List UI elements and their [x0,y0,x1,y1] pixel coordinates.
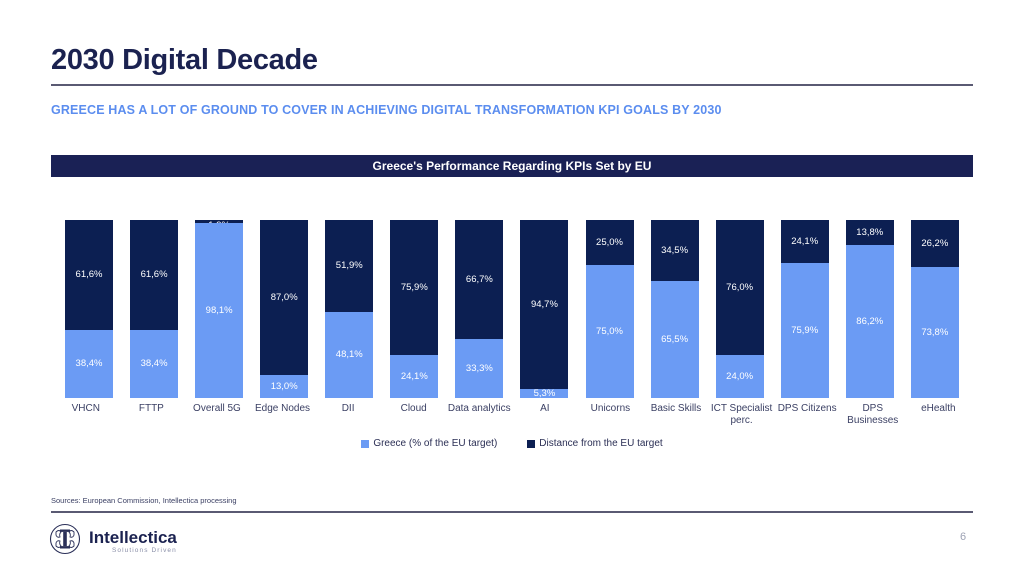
chart-title-banner: Greece's Performance Regarding KPIs Set … [51,155,973,177]
bar-value-label: 24,0% [726,372,753,382]
bar-segment-distance: 34,5% [651,220,699,281]
chart-legend: Greece (% of the EU target)Distance from… [0,438,1024,449]
bar-value-label: 24,1% [791,237,818,247]
bar-column[interactable]: 66,7%33,3% [455,220,503,398]
axis-category-label: DPS Citizens [774,403,840,426]
bar-column[interactable]: 26,2%73,8% [911,220,959,398]
bar-segment-distance: 61,6% [65,220,113,330]
logo-name: Intellectica [89,529,177,547]
bar-value-label: 98,1% [206,306,233,316]
intellectica-emblem-icon [48,522,82,561]
bar-segment-greece: 5,3% [520,389,568,398]
legend-label: Greece (% of the EU target) [373,438,497,449]
bar-segment-greece: 73,8% [911,267,959,398]
chart-title: Greece's Performance Regarding KPIs Set … [373,159,652,173]
bar-column[interactable]: 76,0%24,0% [716,220,764,398]
bar-value-label: 51,9% [336,261,363,271]
bar-column[interactable]: 34,5%65,5% [651,220,699,398]
bar-value-label: 75,9% [791,326,818,336]
axis-category-label: eHealth [906,403,972,426]
bar-column[interactable]: 24,1%75,9% [781,220,829,398]
axis-category-label: Data analytics [446,403,512,426]
bar-segment-distance: 61,6% [130,220,178,330]
bar-segment-greece: 75,0% [586,265,634,399]
axis-category-label: DPS Businesses [840,403,906,426]
logo-tagline: Solutions Driven [89,547,177,554]
bar-column[interactable]: 61,6%38,4% [65,220,113,398]
bar-value-label: 5,3% [534,389,556,399]
legend-swatch-icon [527,440,535,448]
bar-segment-greece: 38,4% [65,330,113,398]
axis-category-label: Edge Nodes [250,403,316,426]
bar-value-label: 34,5% [661,246,688,256]
brand-logo: Intellectica Solutions Driven [48,522,177,561]
bar-segment-greece: 48,1% [325,312,373,398]
axis-category-label: VHCN [53,403,119,426]
bar-column[interactable]: 51,9%48,1% [325,220,373,398]
bar-column[interactable]: 87,0%13,0% [260,220,308,398]
legend-item[interactable]: Greece (% of the EU target) [361,438,497,449]
page-title: 2030 Digital Decade [51,44,318,77]
bar-column[interactable]: 94,7%5,3% [520,220,568,398]
sources-note: Sources: European Commission, Intellecti… [51,496,237,505]
legend-swatch-icon [361,440,369,448]
bar-segment-greece: 24,0% [716,355,764,398]
bar-segment-distance: 13,8% [846,220,894,245]
bar-value-label: 75,9% [401,283,428,293]
bar-value-label: 25,0% [596,238,623,248]
bar-segment-distance: 51,9% [325,220,373,312]
bar-segment-greece: 38,4% [130,330,178,398]
page-number: 6 [960,531,966,543]
bar-value-label: 48,1% [336,350,363,360]
bar-value-label: 61,6% [76,270,103,280]
bar-segment-distance: 75,9% [390,220,438,355]
bar-value-label: 73,8% [921,328,948,338]
bar-value-label: 75,0% [596,327,623,337]
legend-label: Distance from the EU target [539,438,662,449]
bar-value-label: 38,4% [76,359,103,369]
axis-category-label: Basic Skills [643,403,709,426]
bar-segment-distance: 94,7% [520,220,568,389]
title-divider [51,84,973,86]
bar-segment-greece: 75,9% [781,263,829,398]
bar-column[interactable]: 25,0%75,0% [586,220,634,398]
bar-segment-greece: 86,2% [846,245,894,398]
page-subtitle: GREECE HAS A LOT OF GROUND TO COVER IN A… [51,103,722,117]
bar-segment-greece: 13,0% [260,375,308,398]
bar-column[interactable]: 75,9%24,1% [390,220,438,398]
bar-group: 61,6%38,4%61,6%38,4%1,9%98,1%87,0%13,0%5… [51,200,973,398]
chart-plot-area: 61,6%38,4%61,6%38,4%1,9%98,1%87,0%13,0%5… [51,200,973,400]
bar-segment-distance: 25,0% [586,220,634,265]
axis-category-label: ICT Specialist perc. [709,403,775,426]
axis-category-label: Unicorns [578,403,644,426]
bar-value-label: 76,0% [726,283,753,293]
bar-value-label: 13,0% [271,382,298,392]
axis-category-label: Overall 5G [184,403,250,426]
bar-segment-greece: 65,5% [651,281,699,398]
bar-segment-greece: 24,1% [390,355,438,398]
bar-column[interactable]: 13,8%86,2% [846,220,894,398]
footer-divider [51,511,973,513]
bar-value-label: 65,5% [661,335,688,345]
bar-segment-distance: 24,1% [781,220,829,263]
legend-item[interactable]: Distance from the EU target [527,438,662,449]
bar-segment-greece: 33,3% [455,339,503,398]
bar-column[interactable]: 1,9%98,1% [195,220,243,398]
bar-value-label: 61,6% [141,270,168,280]
bar-segment-distance: 76,0% [716,220,764,355]
axis-category-label: DII [315,403,381,426]
bar-value-label: 38,4% [141,359,168,369]
bar-value-label: 33,3% [466,364,493,374]
bar-value-label: 87,0% [271,293,298,303]
bar-segment-greece: 98,1% [195,223,243,398]
bar-segment-distance: 26,2% [911,220,959,267]
bar-value-label: 24,1% [401,372,428,382]
bar-value-label: 66,7% [466,275,493,285]
bar-value-label: 13,8% [856,228,883,238]
bar-value-label: 86,2% [856,317,883,327]
bar-column[interactable]: 61,6%38,4% [130,220,178,398]
axis-category-label: Cloud [381,403,447,426]
bar-segment-distance: 87,0% [260,220,308,375]
axis-category-label: AI [512,403,578,426]
bar-value-label: 26,2% [921,239,948,249]
category-axis: VHCNFTTPOverall 5GEdge NodesDIICloudData… [51,403,973,426]
axis-category-label: FTTP [119,403,185,426]
bar-value-label: 94,7% [531,300,558,310]
bar-segment-distance: 66,7% [455,220,503,339]
